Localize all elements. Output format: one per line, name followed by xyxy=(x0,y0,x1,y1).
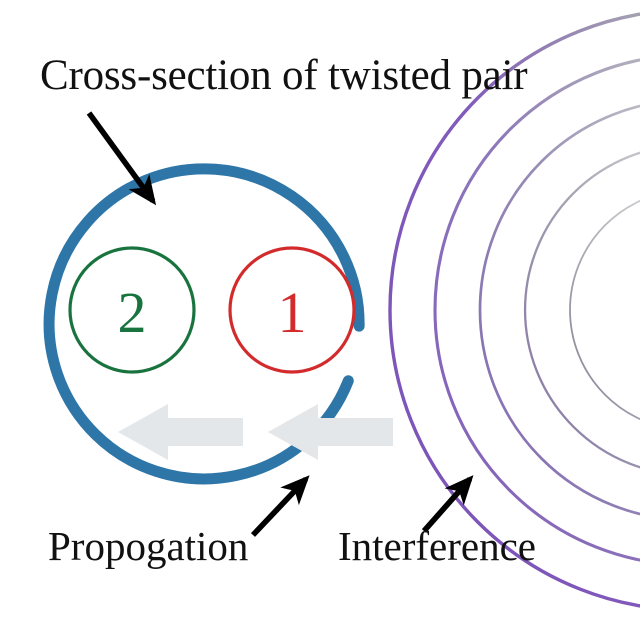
propagation-arrow-left xyxy=(118,404,243,460)
conductor-2-number: 2 xyxy=(118,280,147,345)
interference-label: Interference xyxy=(338,526,536,567)
wave-arc-5 xyxy=(390,10,640,610)
wave-arc-1 xyxy=(570,190,640,430)
wave-arc-4 xyxy=(435,55,640,565)
propagation-label: Propogation xyxy=(48,526,248,567)
twisted-pair-sheath xyxy=(9,129,399,520)
conductor-1-number: 1 xyxy=(278,280,307,345)
interference-waves xyxy=(390,10,640,610)
title-label: Cross-section of twisted pair xyxy=(40,54,527,97)
propagation-arrows xyxy=(118,404,393,460)
propagation-pointer-arrow xyxy=(253,479,306,535)
diagram-canvas: 2 1 Cross-section of twisted pair Propog… xyxy=(0,0,640,640)
wave-arc-2 xyxy=(525,145,640,475)
